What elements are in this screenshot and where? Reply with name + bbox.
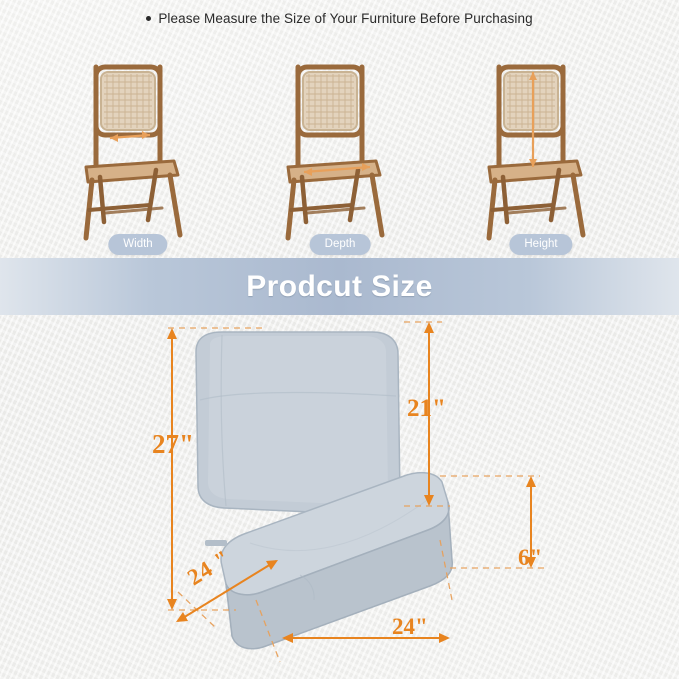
chair-width-chip: Width <box>108 234 167 255</box>
dimension-27: 27" <box>152 429 194 460</box>
chair-illustration-svg <box>240 42 440 257</box>
chair-illustration-svg <box>38 42 238 257</box>
chair-height: Height <box>441 42 641 257</box>
section-banner: Prodcut Size <box>0 258 679 315</box>
measure-note-text: Please Measure the Size of Your Furnitur… <box>158 11 532 26</box>
banner-title: Prodcut Size <box>246 270 433 304</box>
bullet-icon <box>146 16 151 21</box>
chair-illustration-svg <box>441 42 641 257</box>
chair-height-chip: Height <box>509 234 572 255</box>
chair-illustrations: Width <box>0 42 679 257</box>
chair-width: Width <box>38 42 238 257</box>
chair-depth-chip: Depth <box>310 234 371 255</box>
product-dimension-labels: 6 Inches <box>0 315 679 679</box>
chair-depth: Depth <box>240 42 440 257</box>
dimension-24-width: 24" <box>392 614 428 640</box>
dimension-21: 21" <box>407 395 446 423</box>
product-infographic: Please Measure the Size of Your Furnitur… <box>0 0 679 679</box>
measure-note: Please Measure the Size of Your Furnitur… <box>0 11 679 26</box>
dimension-6: 6" <box>518 545 542 571</box>
